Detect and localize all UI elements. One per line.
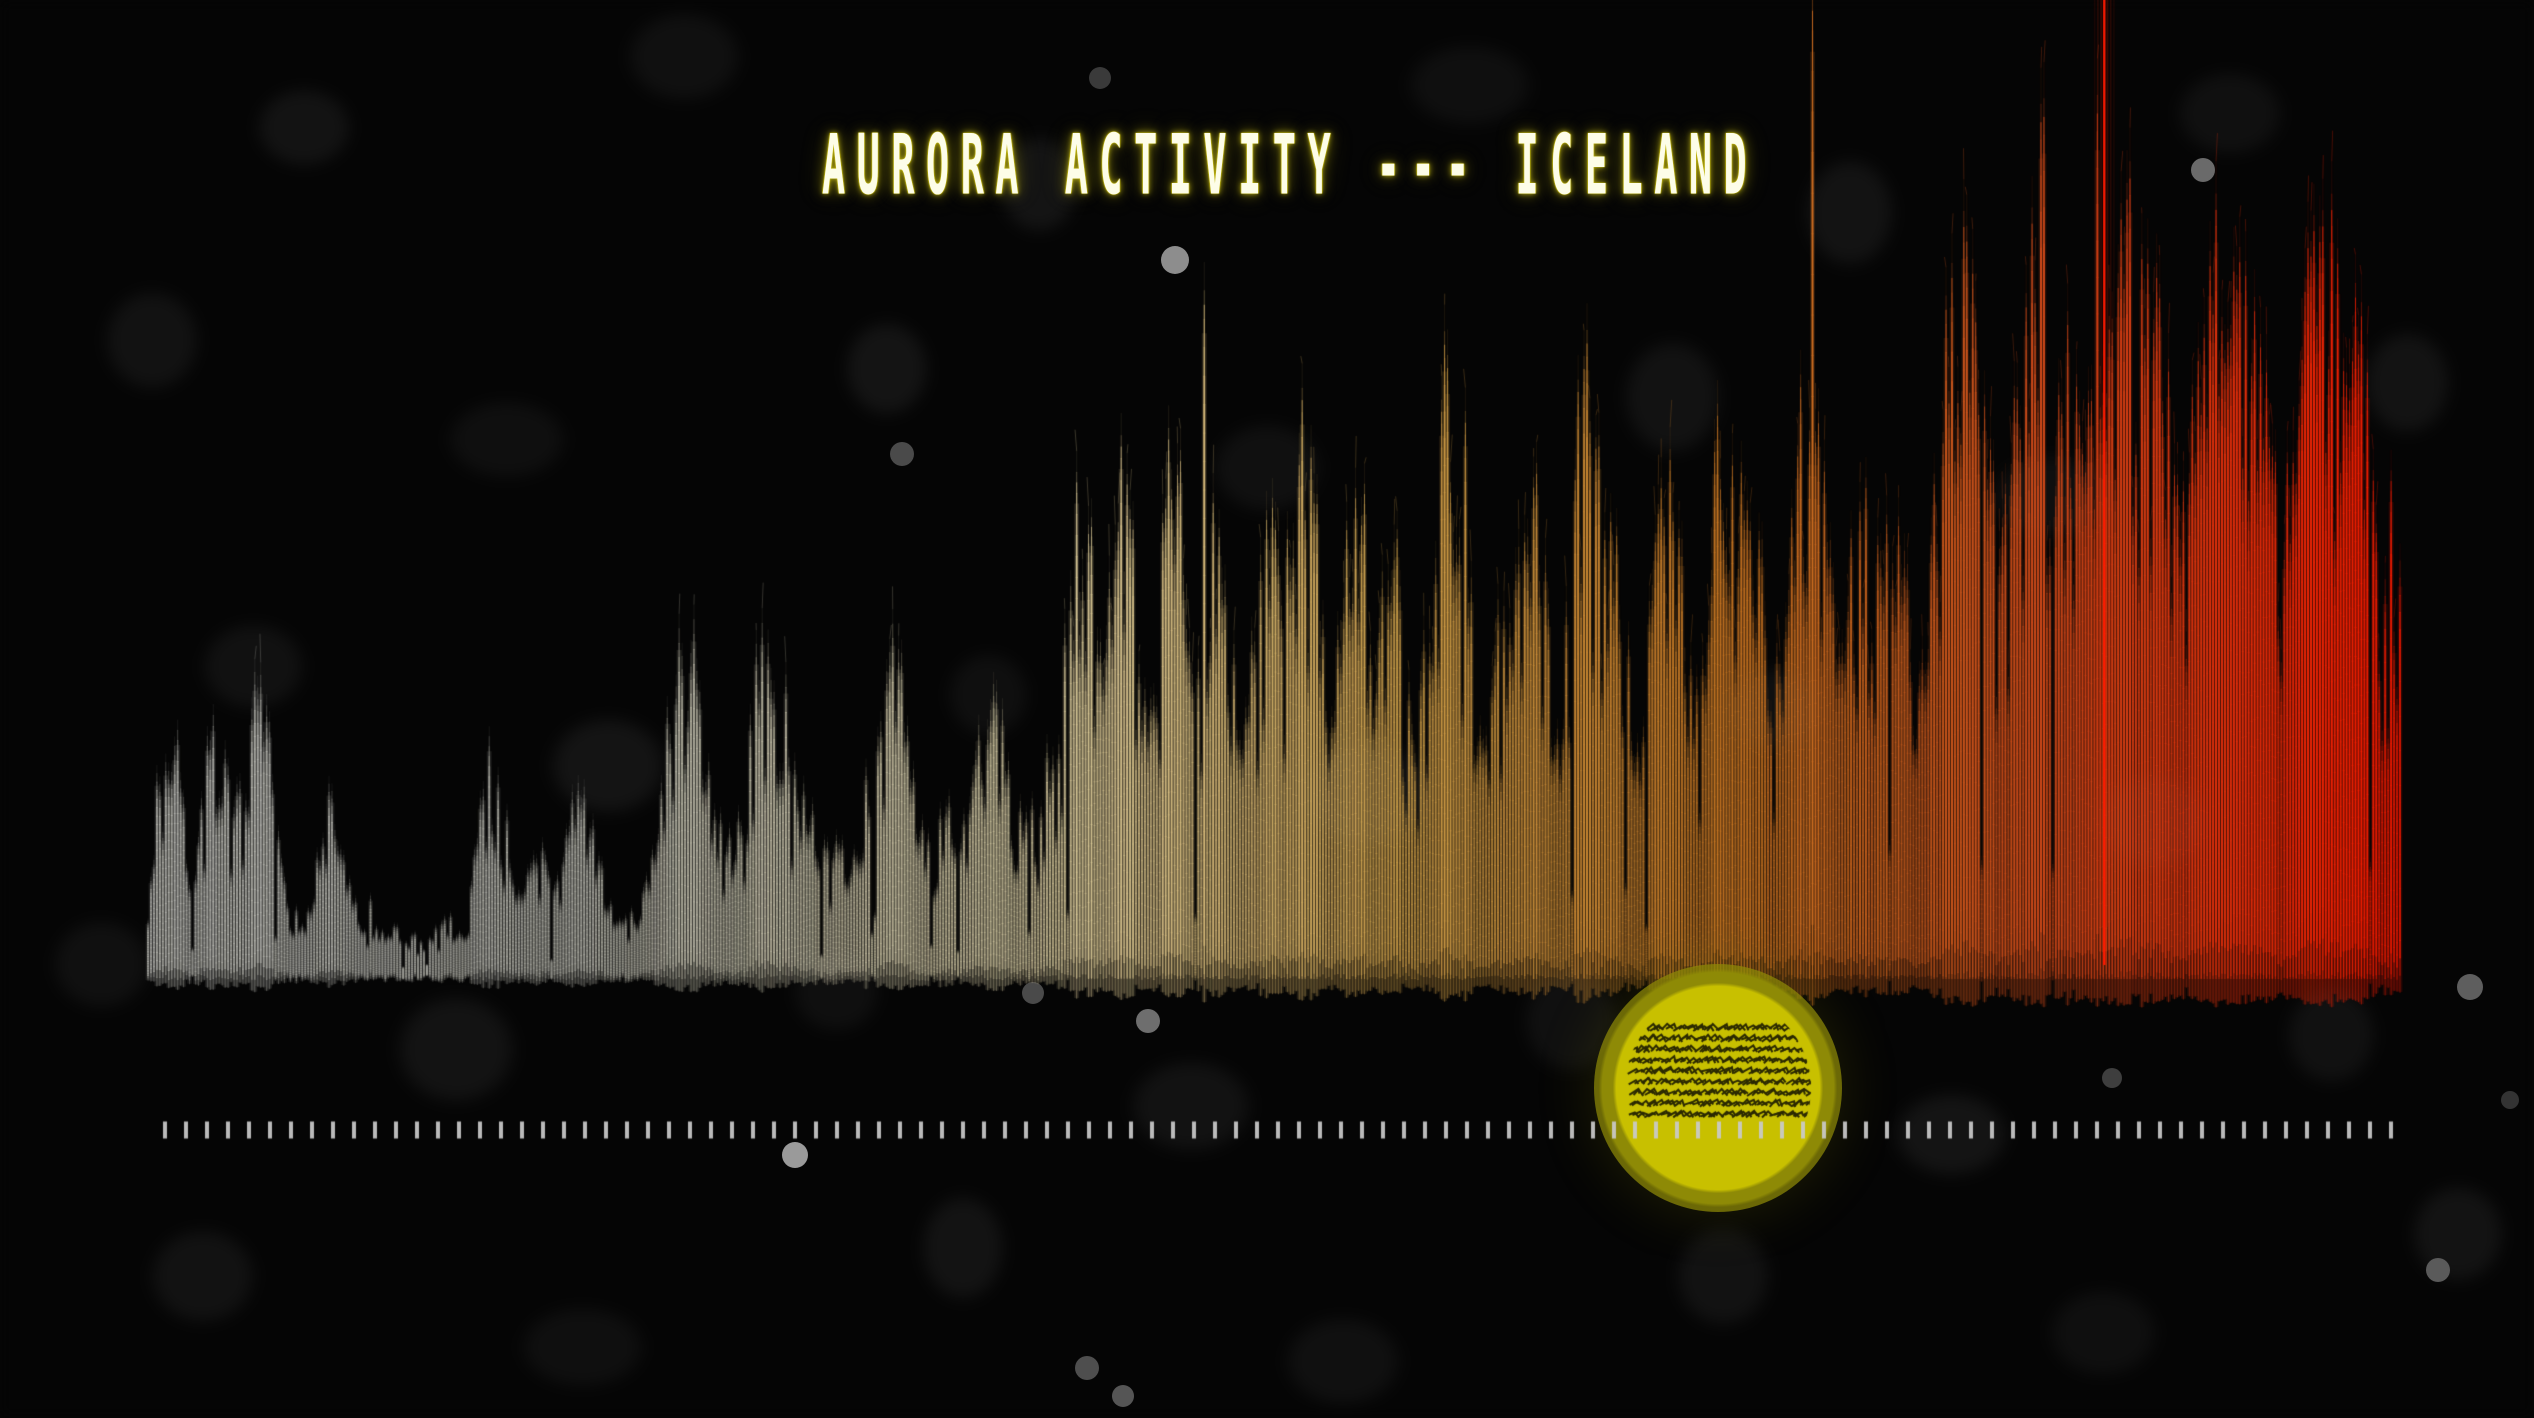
moon-texture-band [1594, 964, 1842, 1212]
aurora-visualization-canvas: AURORA ACTIVITY --- ICELAND [0, 0, 2534, 1418]
aurora-moon[interactable] [1594, 964, 1842, 1212]
page-title: AURORA ACTIVITY --- ICELAND [822, 116, 1758, 214]
timeline-axis [0, 1110, 2534, 1150]
